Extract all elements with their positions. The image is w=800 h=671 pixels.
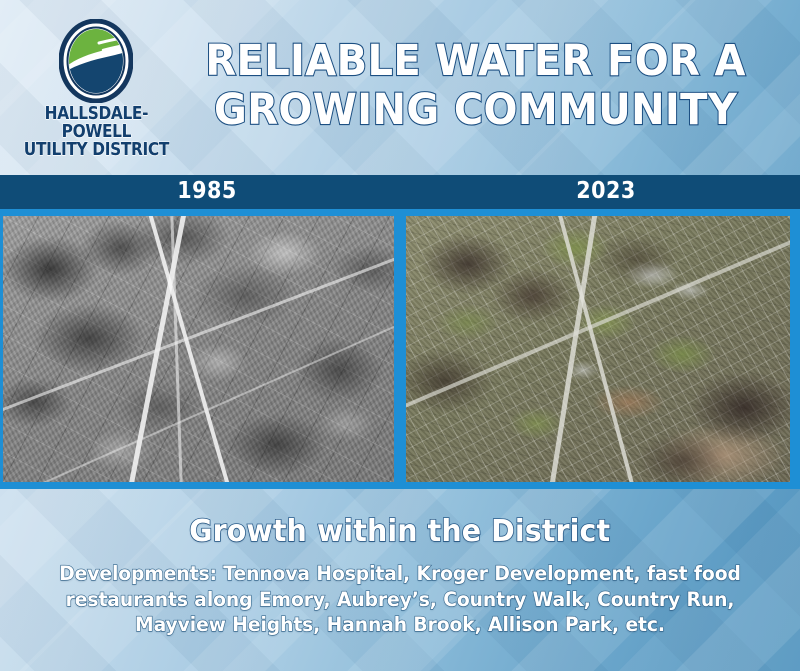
year-label-2023: 2023 — [400, 175, 800, 209]
brand-name-line1: HALLSDALE-POWELL — [19, 106, 175, 142]
aerial-photo-1985 — [3, 216, 394, 482]
footer-body-text: Developments: Tennova Hospital, Kroger D… — [54, 561, 745, 638]
poster-footer: Growth within the District Developments:… — [0, 489, 800, 671]
year-label-bar: 1985 2023 — [0, 175, 800, 209]
hpud-circle-logo-icon — [59, 19, 133, 103]
year-label-1985: 1985 — [0, 175, 400, 209]
photo-frame-1985 — [0, 209, 400, 489]
comparison-photo-row — [0, 209, 800, 489]
cross-road-line — [3, 228, 394, 441]
poster-title-line1: RELIABLE WATER FOR A — [205, 37, 746, 85]
photo-frame-2023 — [400, 209, 800, 489]
poster-title: RELIABLE WATER FOR A GROWING COMMUNITY — [185, 37, 800, 137]
highway-line — [132, 216, 246, 482]
brand-wordmark: HALLSDALE-POWELL UTILITY DISTRICT — [8, 106, 185, 160]
poster-header: HALLSDALE-POWELL UTILITY DISTRICT RELIAB… — [0, 0, 800, 175]
brand-name-line2: UTILITY DISTRICT — [19, 142, 175, 160]
brand-logo-block: HALLSDALE-POWELL UTILITY DISTRICT — [8, 15, 185, 160]
year-text-1985: 1985 — [177, 178, 236, 204]
infographic-poster: HALLSDALE-POWELL UTILITY DISTRICT RELIAB… — [0, 0, 800, 671]
poster-title-line2: GROWING COMMUNITY — [205, 86, 746, 134]
cross-road-line — [406, 216, 790, 439]
footer-heading: Growth within the District — [189, 514, 610, 549]
aerial-photo-2023 — [406, 216, 790, 482]
year-text-2023: 2023 — [576, 178, 635, 204]
